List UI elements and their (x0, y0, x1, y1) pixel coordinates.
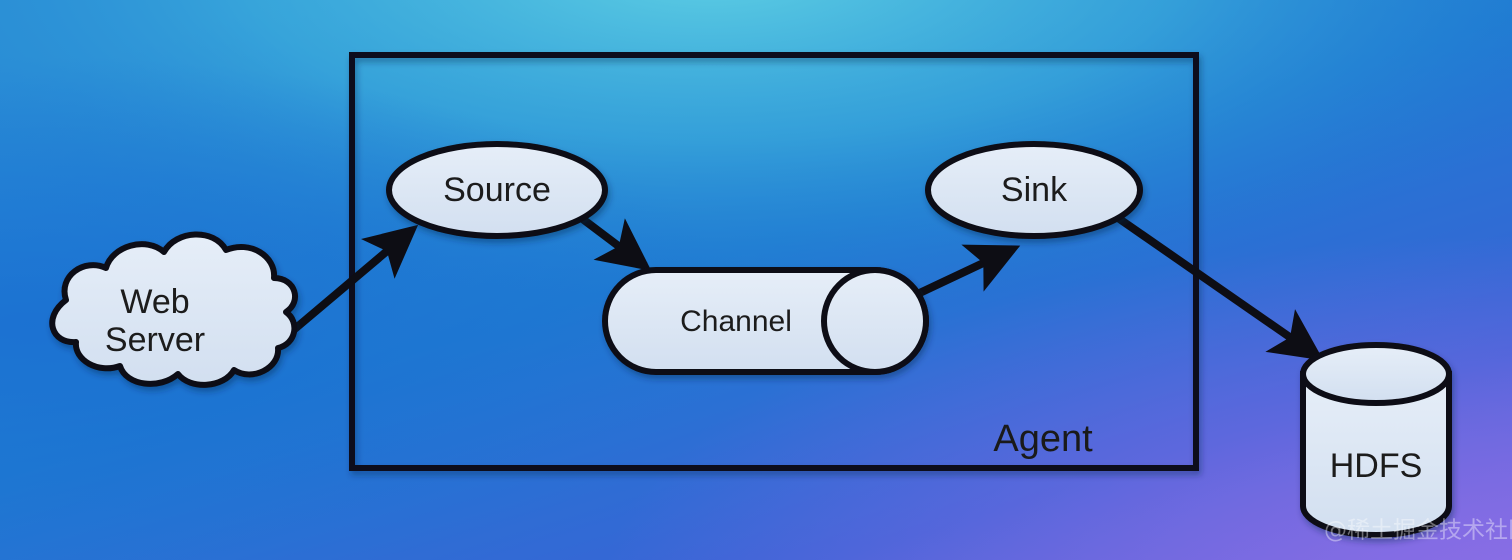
channel-label: Channel (680, 305, 792, 338)
edge-sink-to-hdfs (1108, 211, 1317, 356)
agent-label: Agent (993, 418, 1093, 460)
node-source[interactable]: Source (389, 144, 605, 236)
agent-container: Agent (352, 55, 1196, 468)
channel-end-cap (824, 270, 926, 372)
diagram-stage: Agent Web Server Source Channel (0, 0, 1512, 560)
flow-diagram: Agent Web Server Source Channel (0, 0, 1512, 560)
watermark: @稀土掘金技术社区 (1324, 518, 1512, 544)
hdfs-top-cap (1303, 345, 1449, 403)
web-server-label-line-2: Server (105, 321, 205, 359)
web-server-label-line-1: Web (120, 283, 189, 321)
node-hdfs[interactable]: HDFS (1303, 345, 1449, 535)
edge-source-to-channel (576, 214, 645, 266)
node-sink[interactable]: Sink (928, 144, 1140, 236)
agent-container-border (352, 55, 1196, 468)
node-web-server[interactable]: Web Server (52, 234, 295, 384)
sink-label: Sink (1001, 171, 1068, 209)
hdfs-label: HDFS (1330, 447, 1423, 485)
source-label: Source (443, 171, 551, 209)
node-channel[interactable]: Channel (605, 270, 926, 372)
